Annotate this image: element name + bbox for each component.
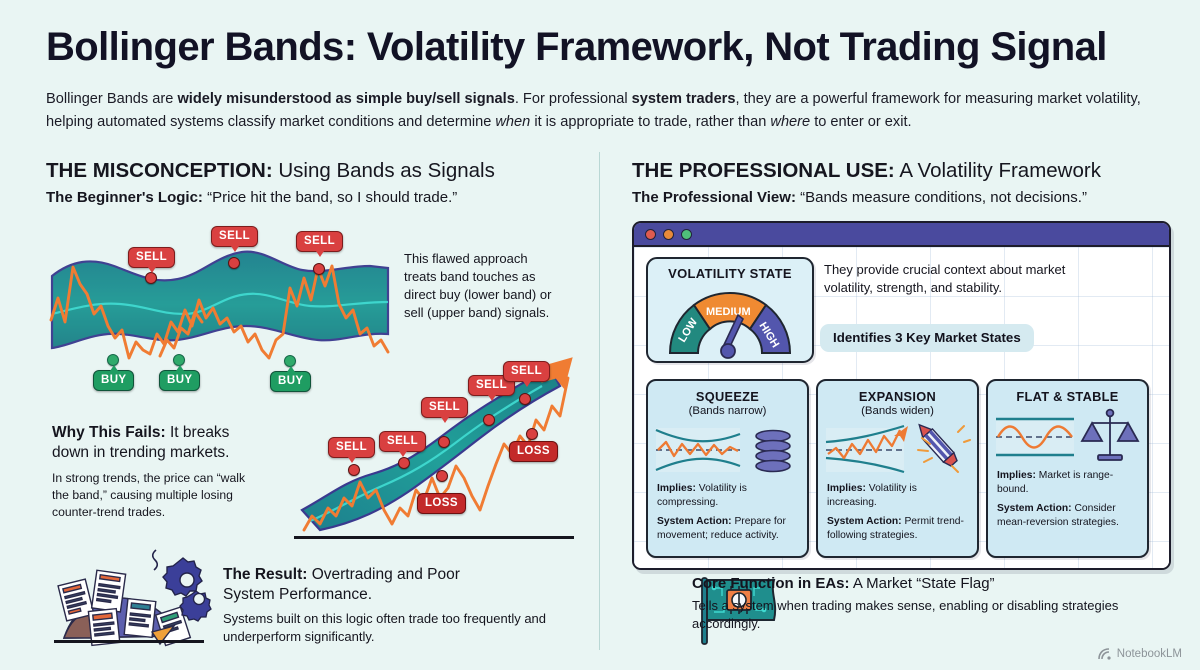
sell-marker-dot bbox=[519, 393, 531, 405]
loss-tag: LOSS bbox=[509, 441, 558, 462]
sell-marker-dot bbox=[228, 257, 240, 269]
messy-documents-icon bbox=[48, 556, 220, 652]
subtitle-bold-2: system traders bbox=[632, 91, 736, 107]
minimize-icon[interactable] bbox=[663, 229, 674, 240]
browser-window: VOLATILITY STATE LOW MEDIUM HIGH They pr… bbox=[632, 221, 1171, 570]
bands-context-note: They provide crucial context about marke… bbox=[824, 261, 1114, 298]
subtitle-italic-2: where bbox=[770, 114, 810, 130]
beginner-logic-label: The Beginner's Logic: bbox=[46, 189, 203, 206]
state-card-expansion[interactable]: EXPANSION (Bands widen) bbox=[816, 379, 979, 558]
left-sub-heading: The Beginner's Logic: “Price hit the ban… bbox=[46, 189, 457, 207]
sell-marker-dot bbox=[145, 272, 157, 284]
why-this-fails-heading: Why This Fails: It breaks down in trendi… bbox=[52, 423, 267, 463]
maximize-icon[interactable] bbox=[681, 229, 692, 240]
left-section-label: THE MISCONCEPTION: bbox=[46, 159, 273, 182]
right-sub-heading: The Professional View: “Bands measure co… bbox=[632, 189, 1087, 207]
why-this-fails-body: In strong trends, the price can “walk th… bbox=[52, 470, 264, 521]
sell-marker-dot bbox=[438, 436, 450, 448]
state-card-subtitle: (Bands widen) bbox=[818, 405, 977, 417]
close-icon[interactable] bbox=[645, 229, 656, 240]
left-section-heading: THE MISCONCEPTION: Using Bands as Signal… bbox=[46, 160, 495, 183]
system-action-label: System Action: bbox=[657, 516, 732, 527]
flawed-approach-note: This flawed approach treats band touches… bbox=[404, 250, 554, 322]
sell-tag: SELL bbox=[211, 226, 258, 247]
sell-marker-dot bbox=[313, 263, 325, 275]
implies-label: Implies: bbox=[997, 470, 1036, 481]
state-card-squeeze[interactable]: SQUEEZE (Bands narrow) bbox=[646, 379, 809, 558]
state-card-title: SQUEEZE bbox=[648, 389, 807, 404]
column-divider bbox=[599, 152, 600, 650]
sell-tag: SELL bbox=[379, 431, 426, 452]
professional-view-label: The Professional View: bbox=[632, 189, 796, 206]
loss-tag: LOSS bbox=[417, 493, 466, 514]
volatility-state-card: VOLATILITY STATE LOW MEDIUM HIGH bbox=[646, 257, 814, 363]
sell-marker-dot bbox=[348, 464, 360, 476]
left-section-rest: Using Bands as Signals bbox=[273, 159, 495, 182]
subtitle-seg-1: Bollinger Bands are bbox=[46, 91, 177, 107]
core-function-block: Core Function in EAs: A Market “State Fl… bbox=[692, 575, 1162, 633]
right-section-label: THE PROFESSIONAL USE: bbox=[632, 159, 895, 182]
result-label: The Result: bbox=[223, 566, 307, 583]
state-card-flat-stable[interactable]: FLAT & STABLE bbox=[986, 379, 1149, 558]
core-function-label: Core Function in EAs: bbox=[692, 575, 850, 592]
chart-baseline bbox=[294, 536, 574, 539]
volatility-gauge-icon: LOW MEDIUM HIGH bbox=[664, 285, 796, 357]
state-card-art bbox=[648, 420, 807, 482]
key-market-states-pill: Identifies 3 Key Market States bbox=[820, 324, 1034, 352]
sell-tag: SELL bbox=[503, 361, 550, 382]
core-function-heading: Core Function in EAs: A Market “State Fl… bbox=[692, 575, 1162, 594]
state-card-art bbox=[988, 407, 1147, 469]
professional-view-quote: “Bands measure conditions, not decisions… bbox=[796, 189, 1087, 206]
core-function-body: Tells a system when trading makes sense,… bbox=[692, 597, 1162, 633]
subtitle-seg-5: to enter or exit. bbox=[810, 114, 911, 130]
state-card-text: Implies: Volatility is compressing. Syst… bbox=[648, 482, 807, 542]
sell-tag: SELL bbox=[128, 247, 175, 268]
state-card-subtitle: (Bands narrow) bbox=[648, 405, 807, 417]
page-title: Bollinger Bands: Volatility Framework, N… bbox=[46, 26, 1166, 68]
infographic-canvas: Bollinger Bands: Volatility Framework, N… bbox=[0, 0, 1200, 670]
watermark-text: NotebookLM bbox=[1117, 648, 1182, 660]
browser-content: VOLATILITY STATE LOW MEDIUM HIGH They pr… bbox=[634, 247, 1169, 568]
implies-label: Implies: bbox=[657, 483, 696, 494]
state-card-text: Implies: Volatility is increasing. Syste… bbox=[818, 482, 977, 542]
system-action-label: System Action: bbox=[997, 503, 1072, 514]
buy-tag: BUY bbox=[159, 370, 200, 391]
subtitle-seg-4: it is appropriate to trade, rather than bbox=[530, 114, 770, 130]
subtitle-italic-1: when bbox=[495, 114, 530, 130]
result-heading: The Result: Overtrading and Poor System … bbox=[223, 565, 493, 605]
loss-marker-dot bbox=[436, 470, 448, 482]
state-card-title: FLAT & STABLE bbox=[988, 389, 1147, 404]
sell-marker-dot bbox=[483, 414, 495, 426]
subtitle-seg-2: . For professional bbox=[515, 91, 632, 107]
implies-label: Implies: bbox=[827, 483, 866, 494]
notebooklm-logo-icon bbox=[1098, 648, 1112, 660]
sell-tag: SELL bbox=[328, 437, 375, 458]
result-body: Systems built on this logic often trade … bbox=[223, 610, 553, 646]
subtitle-bold-1: widely misunderstood as simple buy/sell … bbox=[177, 91, 514, 107]
browser-titlebar bbox=[634, 223, 1169, 247]
gauge-label-medium: MEDIUM bbox=[706, 306, 751, 318]
right-section-rest: A Volatility Framework bbox=[895, 159, 1101, 182]
sell-marker-dot bbox=[398, 457, 410, 469]
state-card-art bbox=[818, 420, 977, 482]
beginner-logic-quote: “Price hit the band, so I should trade.” bbox=[203, 189, 457, 206]
state-card-title: EXPANSION bbox=[818, 389, 977, 404]
volatility-state-title: VOLATILITY STATE bbox=[648, 266, 812, 281]
loss-marker-dot bbox=[526, 428, 538, 440]
right-section-heading: THE PROFESSIONAL USE: A Volatility Frame… bbox=[632, 160, 1101, 183]
core-function-rest: A Market “State Flag” bbox=[850, 575, 995, 592]
sell-tag: SELL bbox=[421, 397, 468, 418]
sell-tag: SELL bbox=[296, 231, 343, 252]
why-this-fails-label: Why This Fails: bbox=[52, 424, 166, 441]
system-action-label: System Action: bbox=[827, 516, 902, 527]
buy-tag: BUY bbox=[93, 370, 134, 391]
state-card-text: Implies: Market is range-bound. System A… bbox=[988, 469, 1147, 529]
notebooklm-watermark: NotebookLM bbox=[1098, 648, 1182, 660]
page-subtitle: Bollinger Bands are widely misunderstood… bbox=[46, 88, 1166, 133]
